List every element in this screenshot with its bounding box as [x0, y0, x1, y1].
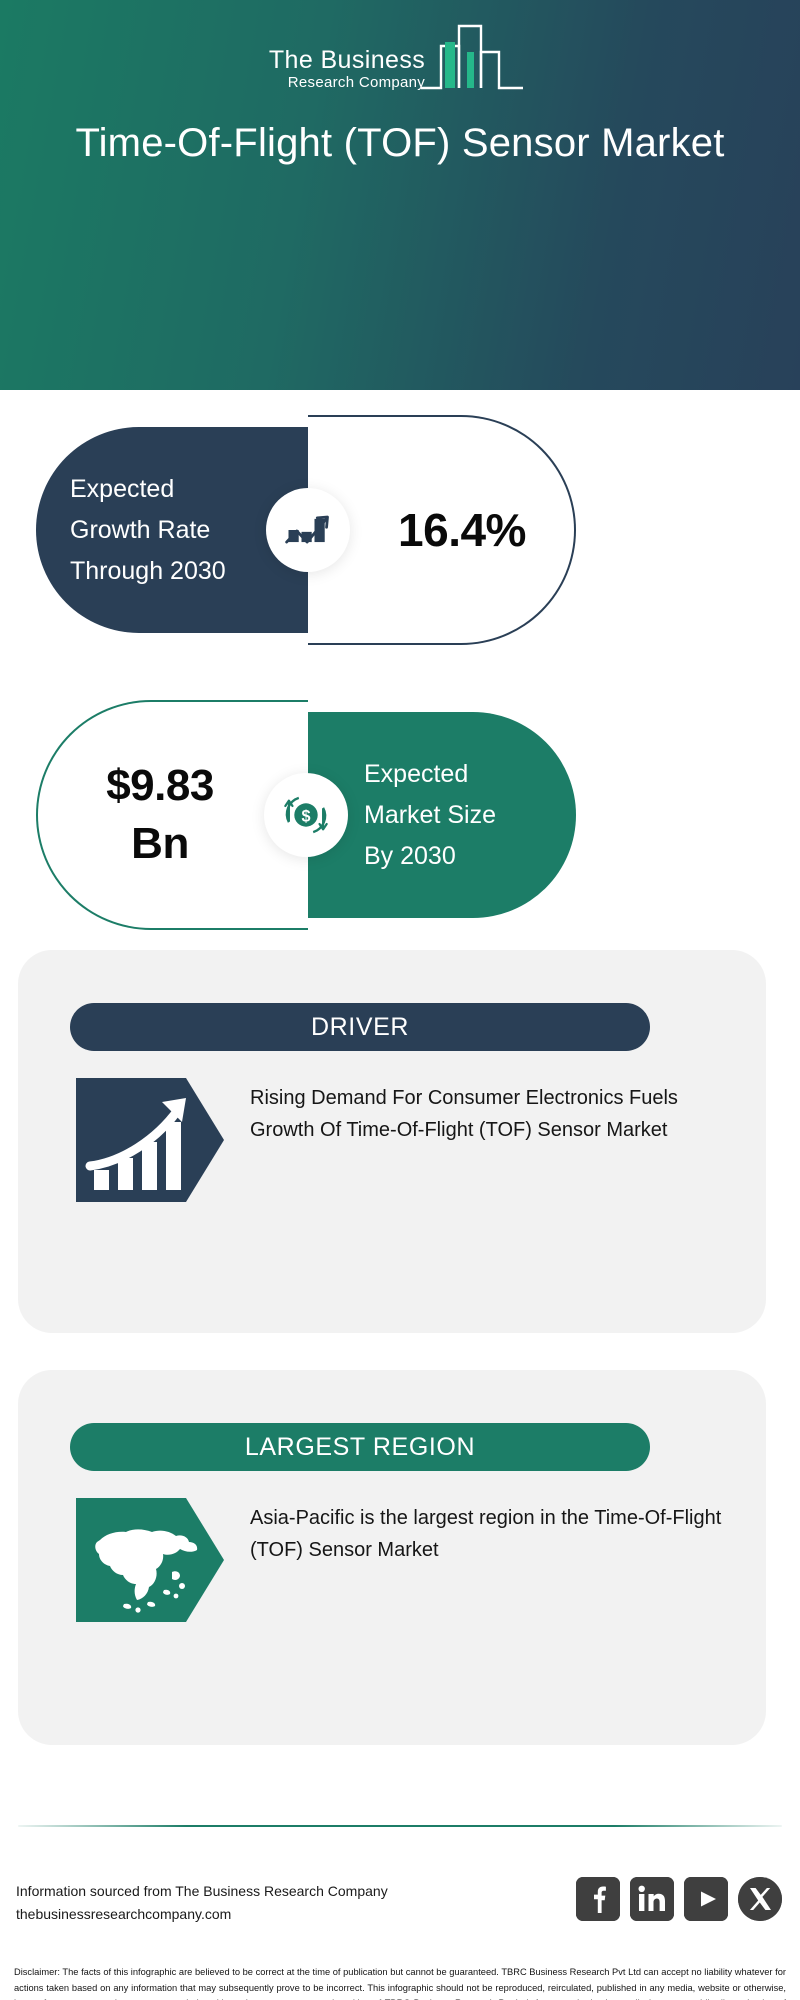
linkedin-icon[interactable]	[630, 1877, 674, 1921]
company-logo: The Business Research Company	[0, 22, 800, 94]
market-size-label-line-2: Market Size	[364, 795, 562, 836]
largest-region-text: Asia-Pacific is the largest region in th…	[250, 1498, 722, 1566]
market-size-value-line-2: Bn	[131, 815, 189, 873]
market-size-label-line-1: Expected	[364, 754, 562, 795]
page-title: Time-Of-Flight (TOF) Sensor Market	[50, 118, 750, 168]
stat-card-growth-rate: Expected Growth Rate Through 2030 16.4%	[36, 415, 576, 645]
largest-region-pill: LARGEST REGION	[70, 1423, 650, 1471]
disclaimer-text: Disclaimer: The facts of this infographi…	[14, 1965, 786, 2000]
facebook-icon[interactable]	[576, 1877, 620, 1921]
market-size-value-line-1: $9.83	[106, 757, 214, 815]
youtube-icon[interactable]	[684, 1877, 728, 1921]
driver-panel: DRIVER Rising Demand For Consumer Electr…	[18, 950, 766, 1333]
driver-text: Rising Demand For Consumer Electronics F…	[250, 1078, 722, 1146]
footer-source: Information sourced from The Business Re…	[16, 1880, 486, 1926]
logo-text: The Business Research Company	[269, 47, 425, 94]
largest-region-pill-label: LARGEST REGION	[245, 1433, 475, 1462]
logo-line-2: Research Company	[269, 74, 425, 92]
x-twitter-icon[interactable]	[738, 1877, 782, 1921]
asia-pacific-map-pentagon-icon	[76, 1498, 224, 1622]
driver-body: Rising Demand For Consumer Electronics F…	[76, 1078, 722, 1202]
footer-divider	[18, 1825, 782, 1827]
driver-pill-label: DRIVER	[311, 1013, 409, 1042]
social-links	[576, 1877, 782, 1921]
header-banner: The Business Research Company	[0, 0, 800, 390]
growth-chart-pentagon-icon	[76, 1078, 224, 1202]
driver-pill: DRIVER	[70, 1003, 650, 1051]
infographic-page: The Business Research Company	[0, 0, 800, 2000]
bar-chart-logo-icon	[419, 22, 531, 94]
footer-source-line-2[interactable]: thebusinessresearchcompany.com	[16, 1903, 486, 1926]
largest-region-body: Asia-Pacific is the largest region in th…	[76, 1498, 722, 1622]
growth-rate-value: 16.4%	[398, 503, 526, 557]
market-size-label-line-3: By 2030	[364, 836, 562, 877]
market-size-label-block: Expected Market Size By 2030	[308, 712, 576, 918]
dollar-circulation-icon: $	[264, 773, 348, 857]
stat-card-market-size: $9.83 Bn Expected Market Size By 2030 $	[36, 700, 576, 930]
largest-region-panel: LARGEST REGION	[18, 1370, 766, 1745]
growth-rate-label-line-3: Through 2030	[70, 551, 300, 592]
svg-text:$: $	[301, 807, 310, 825]
bar-chart-growth-arrow-icon	[266, 488, 350, 572]
growth-rate-label-line-1: Expected	[70, 469, 300, 510]
logo-line-1: The Business	[269, 47, 425, 74]
footer-source-line-1: Information sourced from The Business Re…	[16, 1880, 486, 1903]
